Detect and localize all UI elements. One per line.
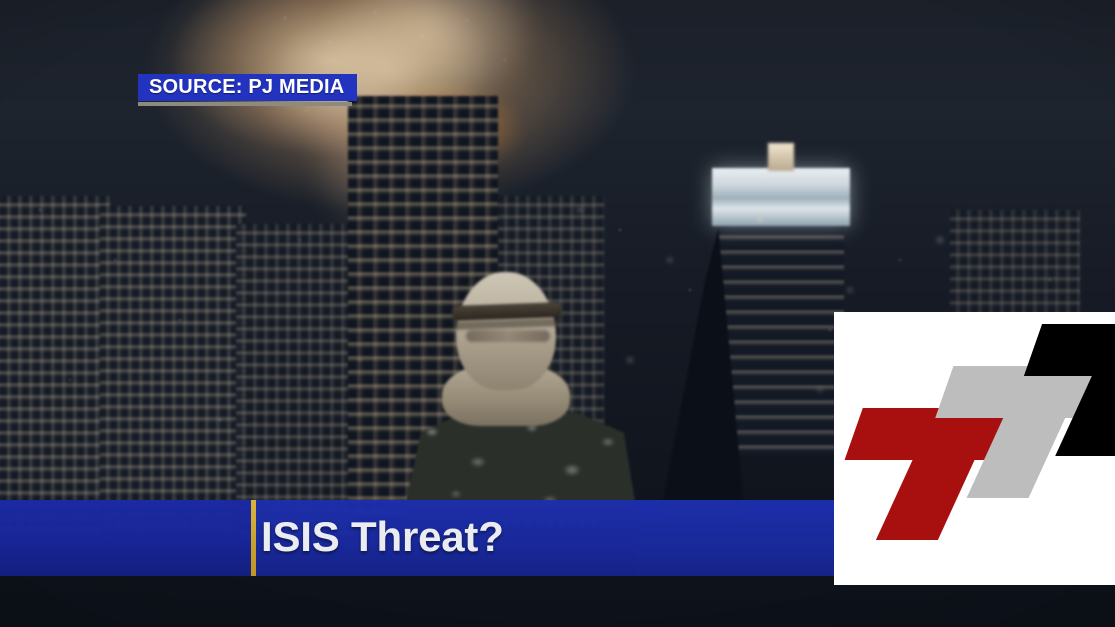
broadcast-video-frame: SOURCE: PJ MEDIA ISIS Threat? <box>0 0 1115 627</box>
three-t-logo-icon <box>834 312 1115 585</box>
source-attribution: SOURCE: PJ MEDIA <box>138 74 357 106</box>
figure-eye-slit <box>466 330 550 342</box>
channel-logo-bug <box>834 312 1115 585</box>
source-label: SOURCE: PJ MEDIA <box>138 74 357 101</box>
headline-text: ISIS Threat? <box>261 509 504 565</box>
masked-figure <box>398 268 638 518</box>
source-underline <box>138 102 352 106</box>
lower-third-left-block <box>0 500 251 576</box>
lower-third-gold-divider <box>251 500 256 576</box>
